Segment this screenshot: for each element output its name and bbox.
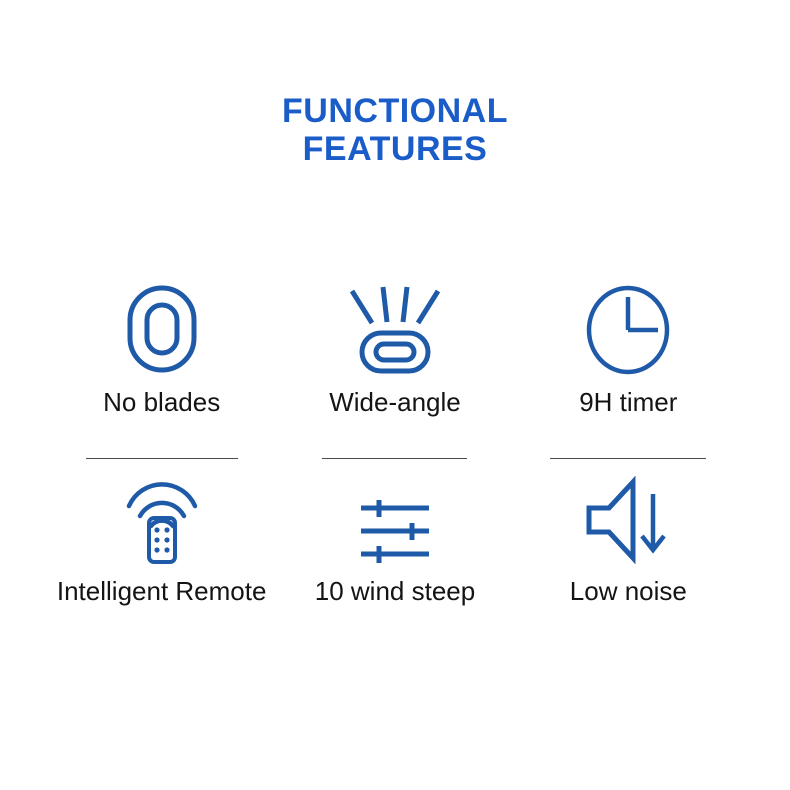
divider-cell-left (45, 458, 278, 459)
sliders-settings-icon (357, 498, 433, 569)
feature-icon-container (125, 285, 199, 380)
divider-cell-middle (278, 458, 511, 459)
feature-9h-timer: 9H timer (512, 285, 745, 435)
clock-timer-icon (584, 283, 672, 380)
divider-cell-right (512, 458, 745, 459)
divider-line (550, 458, 706, 459)
feature-intelligent-remote: Intelligent Remote (45, 481, 278, 631)
page-title: FUNCTIONAL FEATURES (0, 92, 790, 168)
feature-icon-container (336, 285, 454, 380)
feature-label: 9H timer (579, 387, 677, 417)
divider-line (322, 458, 467, 459)
remote-control-signal-icon (121, 476, 203, 569)
feature-label: Intelligent Remote (57, 576, 267, 606)
page-title-line-2: FEATURES (0, 130, 790, 168)
features-grid: No blades (45, 285, 745, 631)
feature-label: Low noise (570, 576, 687, 606)
feature-no-blades: No blades (45, 285, 278, 435)
bladeless-pill-icon (125, 283, 199, 380)
page-title-line-1: FUNCTIONAL (0, 92, 790, 130)
features-row-bottom: Intelligent Remote (45, 481, 745, 631)
wide-angle-airflow-icon (336, 283, 454, 380)
feature-icon-container (121, 481, 203, 569)
feature-wind-steps: 10 wind steep (278, 481, 511, 631)
divider-line (86, 458, 238, 459)
functional-features-infographic: FUNCTIONAL FEATURES No blades (0, 0, 790, 790)
feature-low-noise: Low noise (512, 481, 745, 631)
feature-wide-angle: Wide-angle (278, 285, 511, 435)
feature-icon-container (581, 481, 675, 569)
feature-label: Wide-angle (329, 387, 461, 417)
feature-icon-container (584, 285, 672, 380)
speaker-volume-down-icon (581, 476, 675, 569)
features-row-top: No blades (45, 285, 745, 435)
feature-label: No blades (103, 387, 220, 417)
section-dividers (45, 435, 745, 481)
feature-label: 10 wind steep (315, 576, 475, 606)
feature-icon-container (357, 481, 433, 569)
